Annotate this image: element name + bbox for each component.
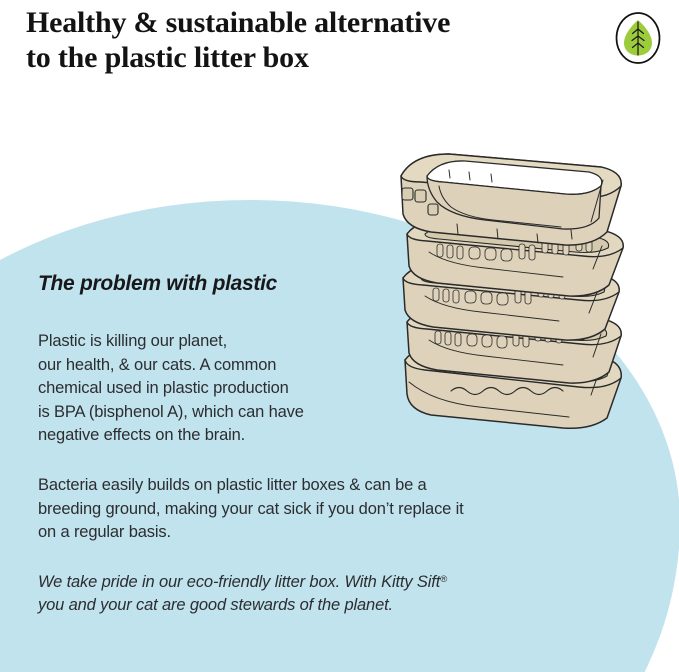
paragraph-1-line-3: chemical used in plastic production [38, 377, 383, 401]
product-infographic-page: Healthy & sustainable alternative to the… [0, 0, 679, 672]
paragraph-bacteria: Bacteria easily builds on plastic litter… [38, 474, 598, 545]
tray-top-rim-frame [401, 154, 621, 245]
paragraph-plastic-problem: Plastic is killing our planet, our healt… [38, 330, 383, 448]
page-title-line-1: Healthy & sustainable alternative [26, 6, 450, 41]
paragraph-brand-statement: We take pride in our eco-friendly litter… [38, 571, 598, 618]
paragraph-3-line-1-text: We take pride in our eco-friendly litter… [38, 573, 440, 591]
registered-trademark-mark: ® [440, 574, 447, 585]
paragraph-1-line-1: Plastic is killing our planet, [38, 330, 383, 354]
paragraph-1-line-4: is BPA (bisphenol A), which can have [38, 401, 383, 425]
paragraph-3-line-1: We take pride in our eco-friendly litter… [38, 571, 598, 595]
header: Healthy & sustainable alternative to the… [0, 0, 679, 76]
page-title: Healthy & sustainable alternative to the… [26, 6, 450, 76]
content-column: The problem with plastic Plastic is kill… [38, 272, 598, 618]
paragraph-2-line-1: Bacteria easily builds on plastic litter… [38, 474, 598, 498]
paragraph-2-line-2: breeding ground, making your cat sick if… [38, 498, 598, 522]
paragraph-1-line-5: negative effects on the brain. [38, 424, 383, 448]
leaf-icon [613, 10, 663, 66]
paragraph-3-line-2: you and your cat are good stewards of th… [38, 594, 598, 618]
paragraph-1-line-2: our health, & our cats. A common [38, 354, 383, 378]
page-title-line-2: to the plastic litter box [26, 41, 450, 76]
paragraph-2-line-3: on a regular basis. [38, 521, 598, 545]
section-subheading: The problem with plastic [38, 272, 598, 296]
